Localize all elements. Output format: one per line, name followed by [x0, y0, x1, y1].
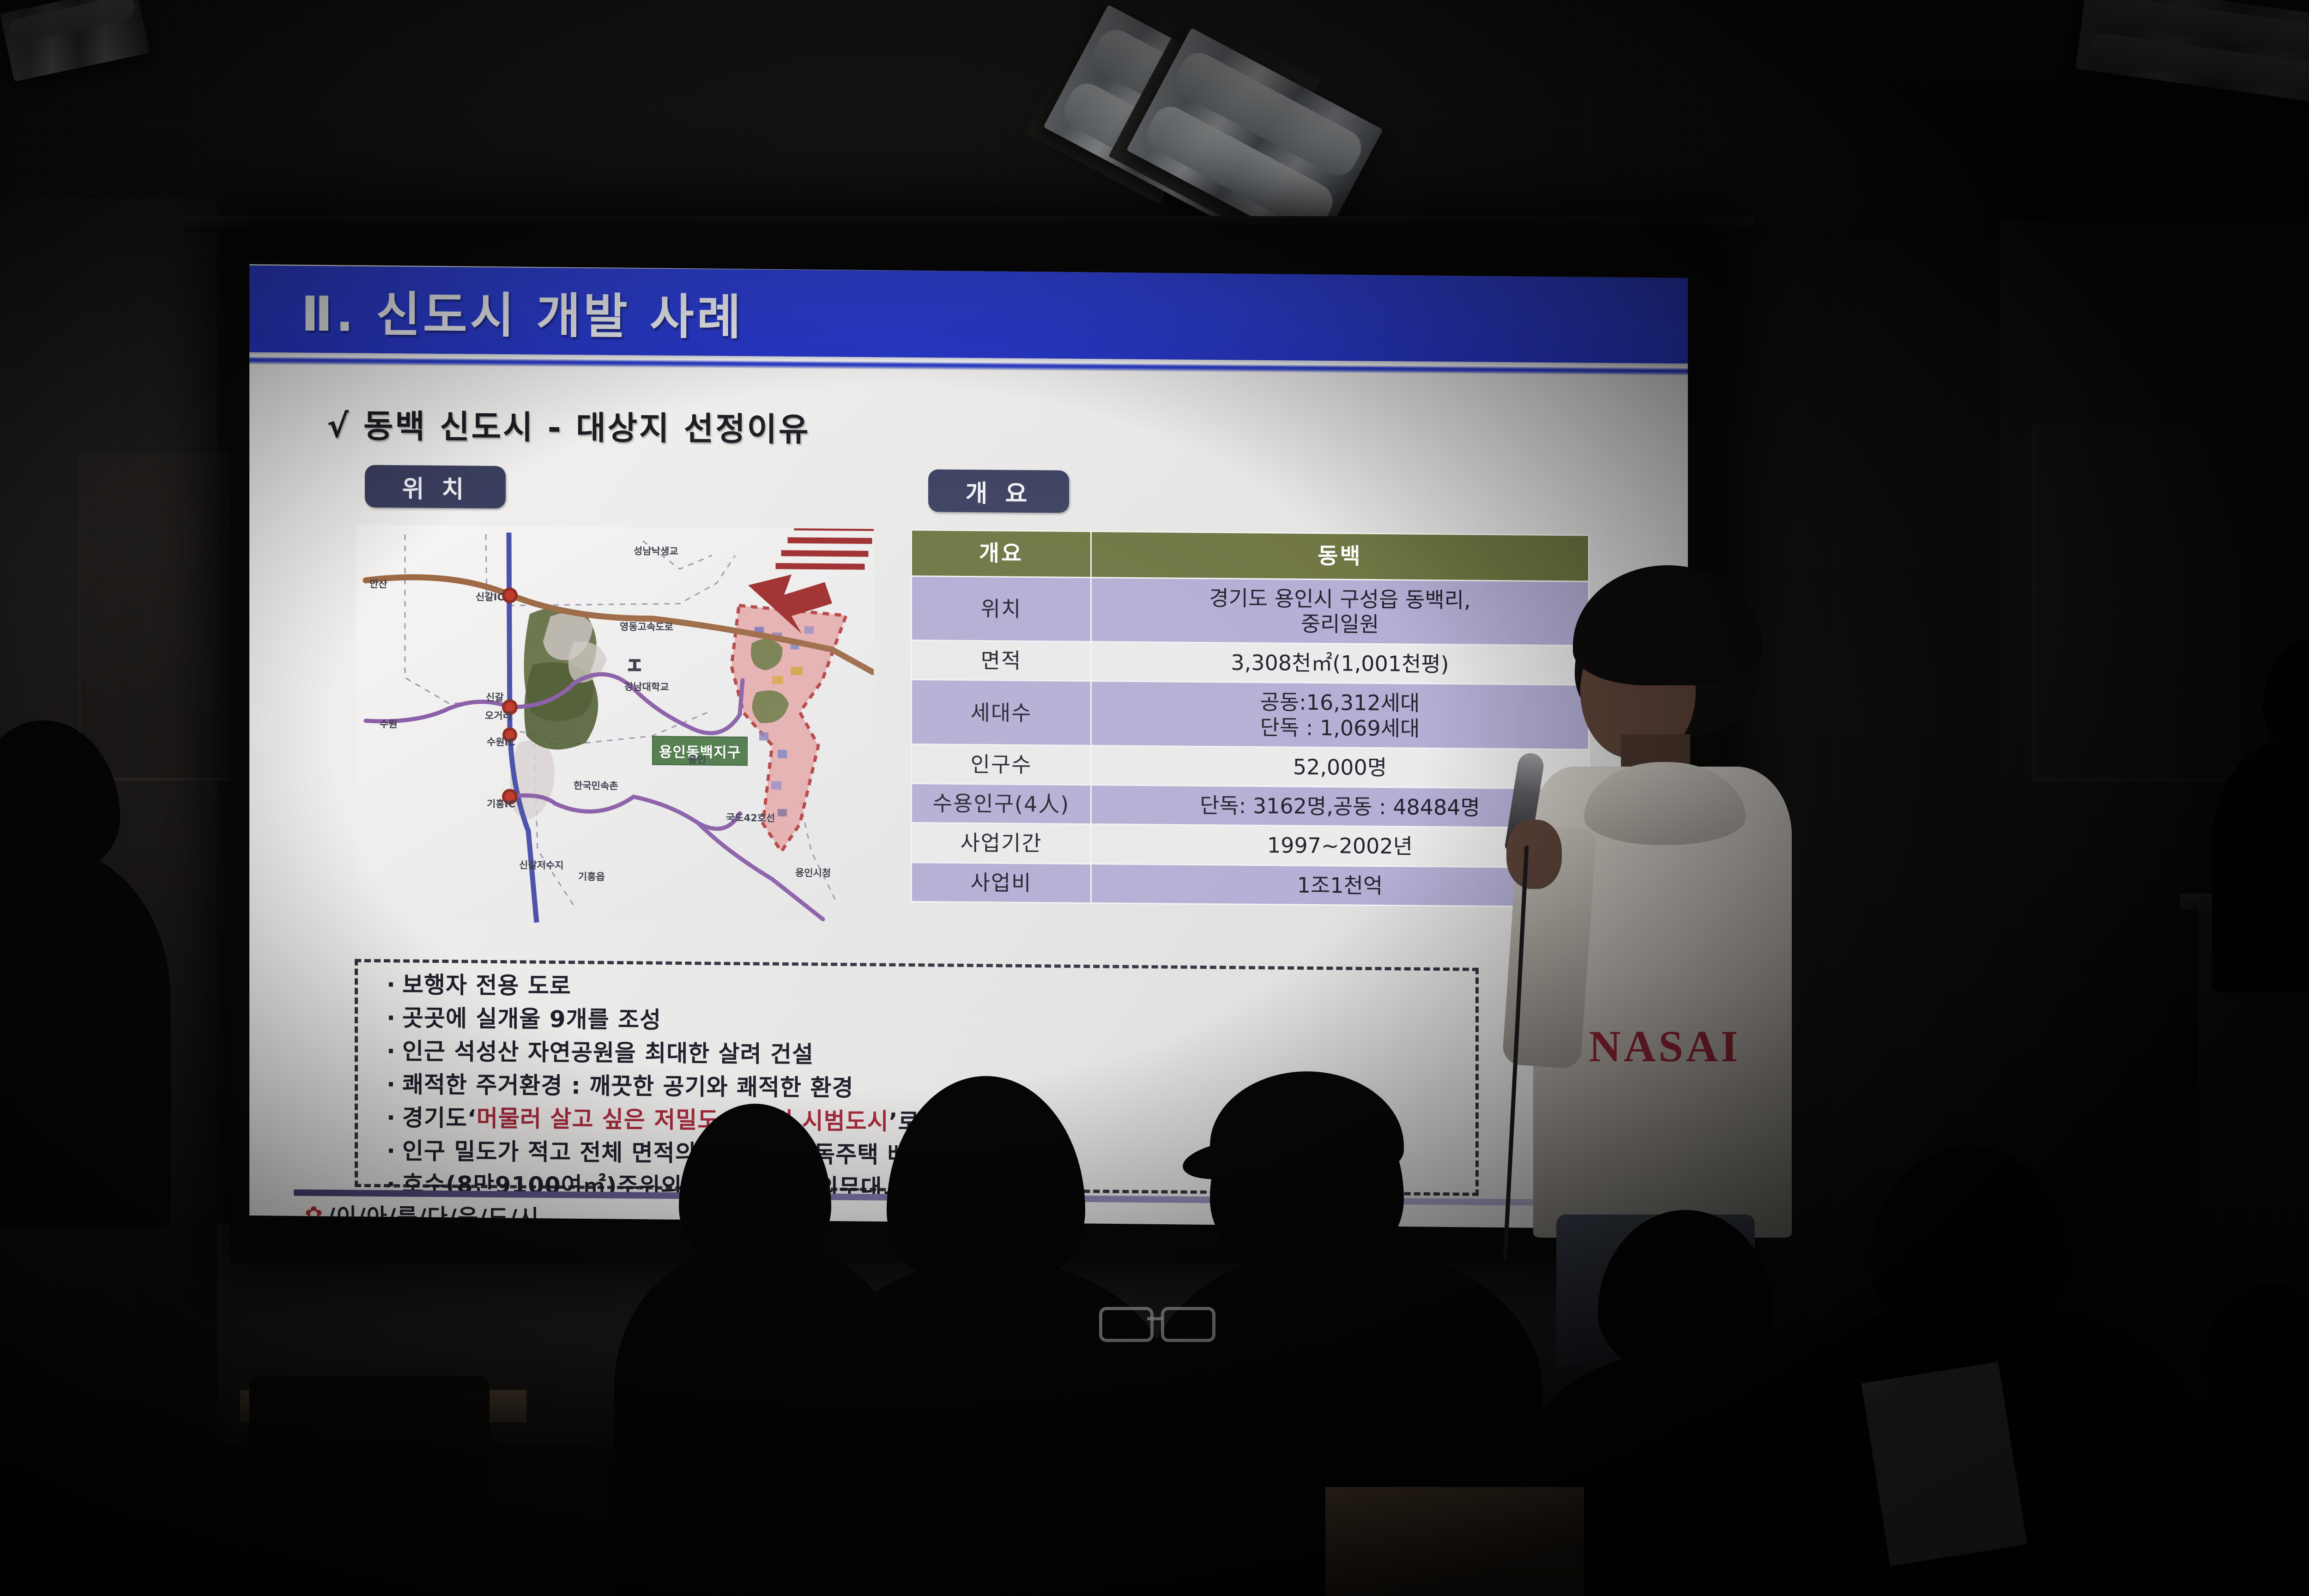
map-label: 안산: [369, 577, 387, 591]
bullet-icon: ·: [387, 1137, 396, 1164]
location-map: 용인동백지구 안산신갈IC성남낙생교영동고속도로강남대학교신갈오거리수원수원IC…: [357, 525, 874, 926]
bullet-icon: ·: [387, 1104, 396, 1131]
map-label: 한국민속촌: [574, 778, 618, 792]
table-row: 수용인구(4人)단독: 3162명,공동 : 48484명: [912, 784, 1589, 828]
bullet-icon: ·: [387, 971, 396, 998]
table-row: 위치경기도 용인시 구성읍 동백리,중리일원: [912, 576, 1589, 646]
table-header-row: 개요 동백: [912, 530, 1589, 581]
map-label: 기흥IC: [487, 797, 515, 810]
map-label: 용인: [688, 752, 706, 766]
map-label: 신갈: [486, 690, 504, 704]
hoodie-logo-text: NASAI: [1566, 1021, 1764, 1072]
table-header-cell: 개요: [912, 530, 1091, 578]
table-cell-key: 수용인구(4人): [912, 784, 1091, 824]
map-label: 영동고속도로: [620, 619, 673, 634]
map-label: 성남낙생교: [634, 544, 678, 558]
table-cell-key: 인구수: [912, 744, 1091, 785]
map-label: 수원: [380, 717, 398, 731]
table-row: 사업기간1997~2002년: [912, 823, 1589, 868]
table-cell-key: 사업비: [912, 862, 1091, 903]
map-label: 오거리: [485, 708, 512, 722]
bullet-icon: ·: [387, 1071, 396, 1098]
table-cell-value: 52,000명: [1091, 746, 1589, 789]
table-cell-value: 공동:16,312세대단독 : 1,069세대: [1091, 681, 1589, 750]
desk: [1325, 1487, 1584, 1596]
table-cell-value: 경기도 용인시 구성읍 동백리,중리일원: [1091, 577, 1589, 646]
table-body: 위치경기도 용인시 구성읍 동백리,중리일원면적3,308천㎡(1,001천평)…: [912, 576, 1589, 907]
presenter-hair-top: [1573, 565, 1762, 685]
table-cell-key: 세대수: [912, 680, 1091, 746]
table-row: 면적3,308천㎡(1,001천평): [912, 641, 1589, 685]
handout-paper: [1862, 1362, 2027, 1566]
footer: ✿ /이/아/름/다/운/도/시: [305, 1198, 539, 1229]
table-row: 세대수공동:16,312세대단독 : 1,069세대: [912, 680, 1589, 750]
map-label: 신갈IC: [476, 590, 504, 604]
audience-member: [2147, 1284, 2309, 1596]
table-cell-key: 면적: [912, 641, 1091, 681]
slide-subtitle: √ 동백 신도시 - 대상지 선정이유: [327, 400, 810, 450]
map-label: 수원IC: [487, 735, 515, 749]
map-label: 국도42호선: [726, 810, 775, 825]
map-label: 기흥읍: [578, 869, 605, 883]
section-badge-location: 위 치: [365, 465, 506, 508]
map-label: 강남대학교: [624, 679, 669, 694]
map-label: 용인시청: [795, 865, 831, 880]
slide-title-band: Ⅱ. 신도시 개발 사례: [249, 266, 1688, 363]
presenter-hand: [1506, 820, 1562, 889]
table-cell-key: 사업기간: [912, 823, 1091, 864]
lecture-room-photo: Ⅱ. 신도시 개발 사례 √ 동백 신도시 - 대상지 선정이유 위 치 개 요: [0, 0, 2309, 1596]
footer-label: /이/아/름/다/운/도/시: [327, 1198, 540, 1229]
bullet-icon: ·: [387, 1004, 396, 1031]
page-title: Ⅱ. 신도시 개발 사례: [301, 274, 743, 348]
bullet-icon: ·: [387, 1038, 396, 1064]
audience-member-rear: [2207, 637, 2309, 988]
table-row: 인구수52,000명: [912, 744, 1589, 789]
section-badge-summary: 개 요: [928, 469, 1069, 513]
map-label: 신갈저수지: [519, 858, 564, 872]
map-pointer-arrow-icon: [740, 525, 874, 646]
eyeglasses-icon: [1099, 1307, 1215, 1336]
table-cell-key: 위치: [912, 576, 1091, 642]
table-header-cell: 동백: [1091, 532, 1589, 581]
table-cell-value: 3,308천㎡(1,001천평): [1091, 642, 1589, 685]
audience-member: [0, 720, 166, 1228]
chair: [249, 1376, 490, 1596]
table-row: 사업비1조1천억: [912, 862, 1589, 907]
flower-logo-icon: ✿: [305, 1202, 324, 1227]
summary-table: 개요 동백 위치경기도 용인시 구성읍 동백리,중리일원면적3,308천㎡(1,…: [911, 529, 1590, 908]
